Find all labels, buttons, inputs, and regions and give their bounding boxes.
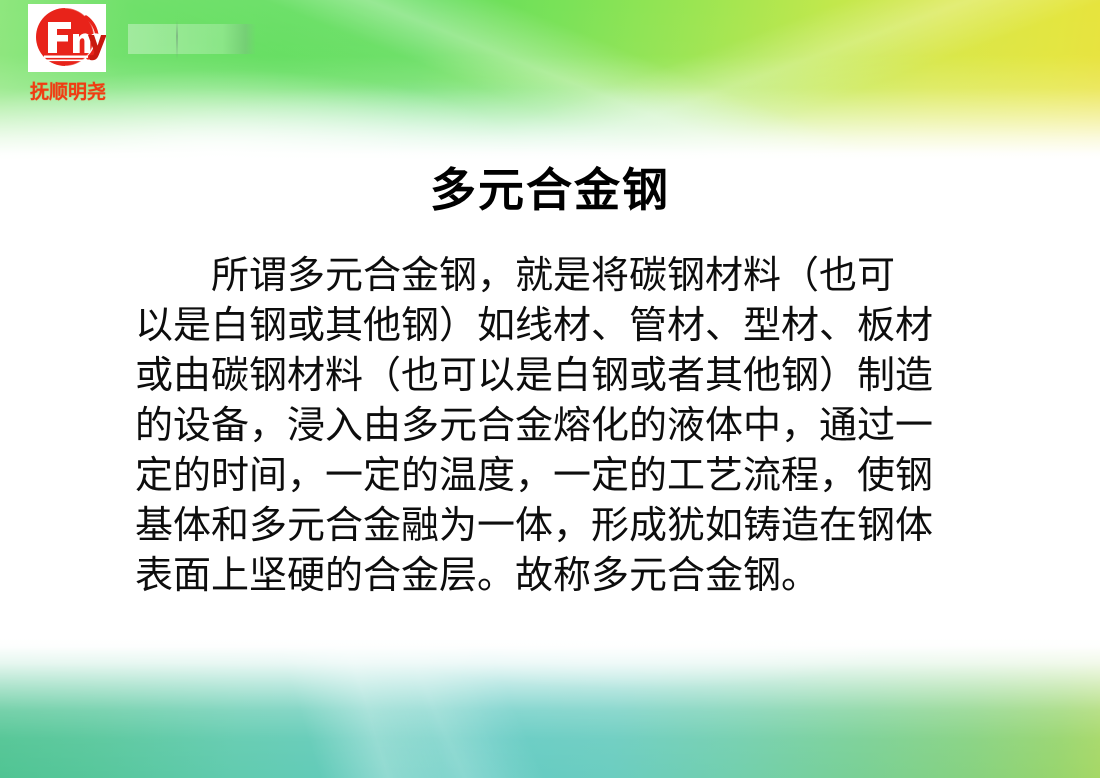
body-line: 的设备，浸入由多元合金熔化的液体中，通过一 — [135, 400, 1000, 450]
slide-title: 多元合金钢 — [0, 150, 1100, 220]
logo-mark-plate — [28, 4, 106, 72]
fmy-logo-icon — [28, 4, 106, 72]
body-line: 或由碳钢材料（也可以是白钢或者其他钢）制造 — [135, 350, 1000, 400]
logo-caption: 抚顺明尧 — [16, 77, 120, 104]
body-line: 定的时间，一定的温度，一定的工艺流程，使钢 — [135, 450, 1000, 500]
body-line: 表面上坚硬的合金层。故称多元合金钢。 — [135, 550, 1000, 600]
top-decorative-banner — [0, 0, 1100, 160]
presentation-slide: 抚顺明尧 多元合金钢 所谓多元合金钢，就是将碳钢材料（也可 以是白钢或其他钢）如… — [0, 0, 1100, 778]
body-line: 基体和多元合金融为一体，形成犹如铸造在钢体 — [135, 500, 1000, 550]
body-line: 所谓多元合金钢，就是将碳钢材料（也可 — [135, 250, 1000, 300]
top-banner-pale-block — [128, 24, 256, 54]
slide-body: 所谓多元合金钢，就是将碳钢材料（也可 以是白钢或其他钢）如线材、管材、型材、板材… — [100, 250, 1000, 600]
body-line: 以是白钢或其他钢）如线材、管材、型材、板材 — [135, 300, 1000, 350]
top-banner-tick-mark — [176, 20, 178, 60]
company-logo: 抚顺明尧 — [28, 4, 112, 104]
slide-content: 多元合金钢 所谓多元合金钢，就是将碳钢材料（也可 以是白钢或其他钢）如线材、管材… — [0, 150, 1100, 600]
bottom-decorative-banner — [0, 638, 1100, 778]
bottom-banner-white-fade — [0, 638, 1100, 778]
